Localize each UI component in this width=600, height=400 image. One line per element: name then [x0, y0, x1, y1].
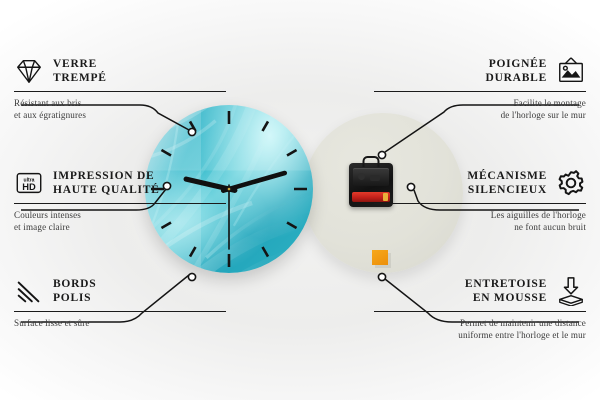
- feature-description: Facilite le montage de l'horloge sur le …: [374, 97, 586, 121]
- feature-title-line2: EN MOUSSE: [465, 291, 547, 305]
- feature-description: Permet de maintenir une distance uniform…: [374, 317, 586, 341]
- feature-desc-line2: uniforme entre l'horloge et le mur: [374, 329, 586, 341]
- feature-desc-line2: et image claire: [14, 221, 226, 233]
- feature-title-line1: ENTRETOISE: [465, 277, 547, 291]
- hour-marker: [161, 150, 171, 156]
- feature-title: POIGNÉE DURABLE: [486, 57, 547, 85]
- hands-hub-center: [228, 188, 231, 191]
- feature-desc-line1: Surface lisse et sûre: [14, 317, 226, 329]
- feature-title-line2: HAUTE QUALITÉ: [53, 183, 160, 197]
- divider: [14, 311, 226, 312]
- feature-title: VERRE TREMPÉ: [53, 57, 107, 85]
- divider: [14, 203, 226, 204]
- divider: [374, 91, 586, 92]
- feature-description: Les aiguilles de l'horloge ne font aucun…: [374, 209, 586, 233]
- mechanism-dial-1: [358, 173, 365, 180]
- feature-desc-line2: ne font aucun bruit: [374, 221, 586, 233]
- ultra-hd-icon-bottom-text: HD: [22, 182, 36, 192]
- feature-title-line2: DURABLE: [486, 71, 547, 85]
- product-infographic: VERRE TREMPÉ Résistant aux bris et aux é…: [0, 0, 600, 400]
- hour-marker: [190, 121, 196, 131]
- feature-header: MÉCANISME SILENCIEUX: [374, 168, 586, 198]
- hanging-frame-icon: [556, 56, 586, 86]
- diamond-icon: [14, 56, 44, 86]
- feature-title-line2: TREMPÉ: [53, 71, 107, 85]
- divider: [374, 203, 586, 204]
- feature-description: Surface lisse et sûre: [14, 317, 226, 329]
- ultra-hd-icon: ultra HD: [14, 168, 44, 198]
- hour-marker: [190, 247, 196, 257]
- feature-title-line1: BORDS: [53, 277, 96, 291]
- foam-spacer: [372, 250, 388, 265]
- divider: [14, 91, 226, 92]
- hanging-tab: [363, 156, 380, 167]
- feature-mecanisme-silencieux: MÉCANISME SILENCIEUX Les aiguilles de l'…: [374, 168, 586, 233]
- feature-header: ENTRETOISE EN MOUSSE: [374, 276, 586, 306]
- divider: [374, 311, 586, 312]
- feature-desc-line1: Couleurs intenses: [14, 209, 226, 221]
- foam-spacer-icon: [556, 276, 586, 306]
- feature-header: VERRE TREMPÉ: [14, 56, 226, 86]
- feature-desc-line2: de l'horloge sur le mur: [374, 109, 586, 121]
- feature-desc-line1: Les aiguilles de l'horloge: [374, 209, 586, 221]
- feature-poignee-durable: POIGNÉE DURABLE Facilite le montage de l…: [374, 56, 586, 121]
- feature-title-line2: SILENCIEUX: [467, 183, 547, 197]
- feature-header: BORDS POLIS: [14, 276, 226, 306]
- feature-title-line1: VERRE: [53, 57, 107, 71]
- feature-verre-trempe: VERRE TREMPÉ Résistant aux bris et aux é…: [14, 56, 226, 121]
- feature-description: Résistant aux bris et aux égratignures: [14, 97, 226, 121]
- polished-edges-icon: [14, 276, 44, 306]
- feature-title: IMPRESSION DE HAUTE QUALITÉ: [53, 169, 160, 197]
- feature-title-line2: POLIS: [53, 291, 96, 305]
- feature-desc-line1: Facilite le montage: [374, 97, 586, 109]
- feature-impression-haute-qualite: ultra HD IMPRESSION DE HAUTE QUALITÉ Cou…: [14, 168, 226, 233]
- feature-title-line1: IMPRESSION DE: [53, 169, 160, 183]
- feature-desc-line1: Résistant aux bris: [14, 97, 226, 109]
- hour-marker: [287, 150, 297, 156]
- feature-description: Couleurs intenses et image claire: [14, 209, 226, 233]
- feature-title: ENTRETOISE EN MOUSSE: [465, 277, 547, 305]
- feature-desc-line2: et aux égratignures: [14, 109, 226, 121]
- minute-hand: [223, 173, 285, 191]
- hour-marker: [287, 223, 297, 229]
- feature-title: MÉCANISME SILENCIEUX: [467, 169, 547, 197]
- feature-title-line1: MÉCANISME: [467, 169, 547, 183]
- hour-marker: [263, 121, 269, 131]
- gear-icon: [556, 168, 586, 198]
- feature-title: BORDS POLIS: [53, 277, 96, 305]
- feature-desc-line1: Permet de maintenir une distance: [374, 317, 586, 329]
- feature-bords-polis: BORDS POLIS Surface lisse et sûre: [14, 276, 226, 329]
- feature-title-line1: POIGNÉE: [486, 57, 547, 71]
- hour-marker: [263, 247, 269, 257]
- feature-entretoise-en-mousse: ENTRETOISE EN MOUSSE Permet de maintenir…: [374, 276, 586, 341]
- feature-header: ultra HD IMPRESSION DE HAUTE QUALITÉ: [14, 168, 226, 198]
- feature-header: POIGNÉE DURABLE: [374, 56, 586, 86]
